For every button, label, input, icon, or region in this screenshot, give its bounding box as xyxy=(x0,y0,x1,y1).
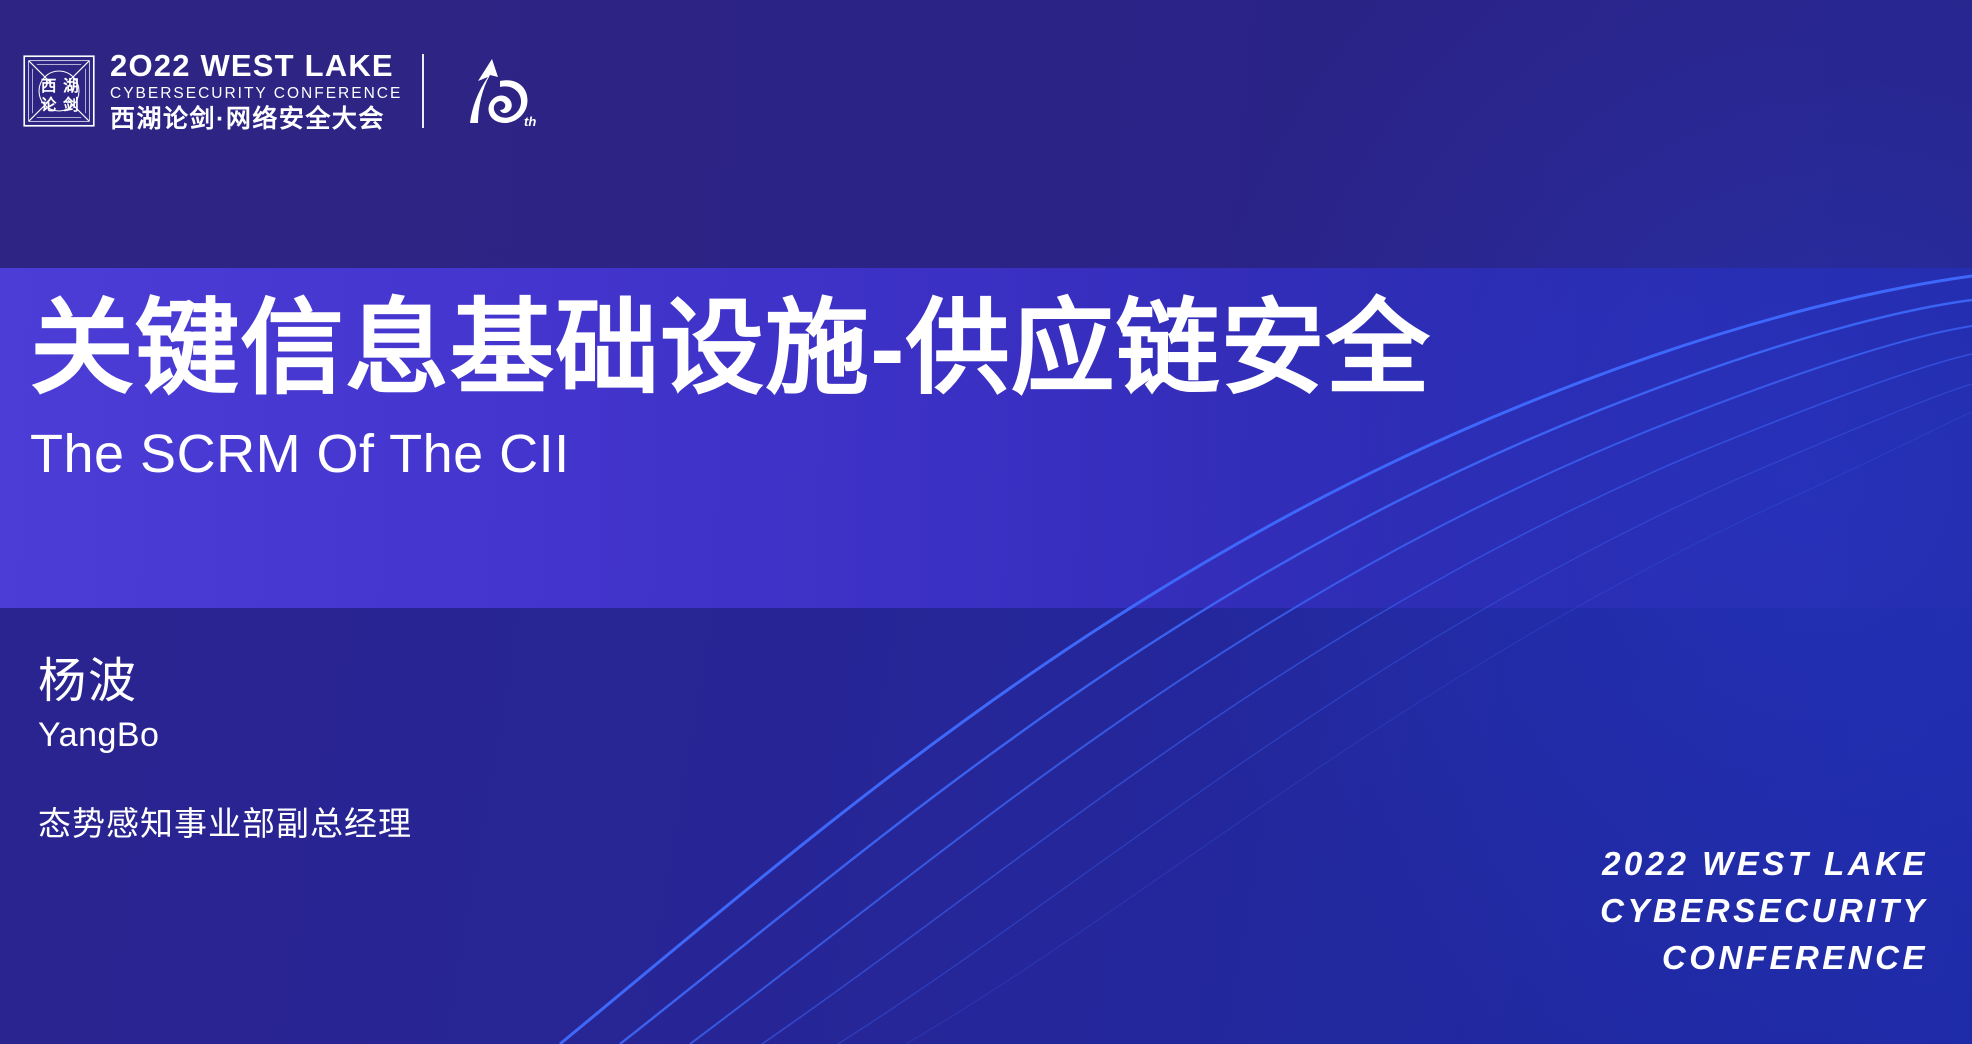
footer-mark-line-1: 2022 WEST LAKE xyxy=(1600,841,1928,888)
svg-text:湖: 湖 xyxy=(63,77,79,95)
svg-text:剑: 剑 xyxy=(62,95,79,114)
speaker-name-chinese: 杨波 xyxy=(38,655,412,709)
svg-text:论: 论 xyxy=(41,95,57,114)
speaker-role: 态势感知事业部副总经理 xyxy=(38,804,412,844)
logo-divider xyxy=(422,54,424,128)
anniversary-suffix: th xyxy=(524,114,536,129)
anniversary-10-icon: th xyxy=(448,51,534,131)
speaker-block: 杨波 YangBo 态势感知事业部副总经理 xyxy=(38,655,412,843)
speaker-name-english: YangBo xyxy=(38,715,412,756)
conference-logo-lockup: 西 湖 论 剑 2O22 WEST LAKE CYBERSECURITY CON… xyxy=(22,48,534,134)
logo-wordmark: 2O22 WEST LAKE CYBERSECURITY CONFERENCE … xyxy=(110,48,402,134)
slide-title-chinese: 关键信息基础设施-供应链安全 xyxy=(30,270,1972,411)
svg-text:西: 西 xyxy=(41,77,57,95)
logo-year-event: 2O22 WEST LAKE xyxy=(110,50,402,81)
slide-title-english: The SCRM Of The CII xyxy=(30,425,1972,484)
footer-mark-line-3: CONFERENCE xyxy=(1600,935,1928,982)
logo-event-chinese: 西湖论剑·网络安全大会 xyxy=(110,105,402,134)
footer-mark-line-2: CYBERSECURITY xyxy=(1600,888,1928,935)
presentation-slide: 西 湖 论 剑 2O22 WEST LAKE CYBERSECURITY CON… xyxy=(0,0,1972,1044)
title-block: 关键信息基础设施-供应链安全 The SCRM Of The CII xyxy=(30,270,1972,608)
footer-conference-mark: 2022 WEST LAKE CYBERSECURITY CONFERENCE xyxy=(1600,841,1928,982)
west-lake-seal-icon: 西 湖 论 剑 xyxy=(22,54,96,128)
logo-event-subtitle: CYBERSECURITY CONFERENCE xyxy=(110,84,402,103)
